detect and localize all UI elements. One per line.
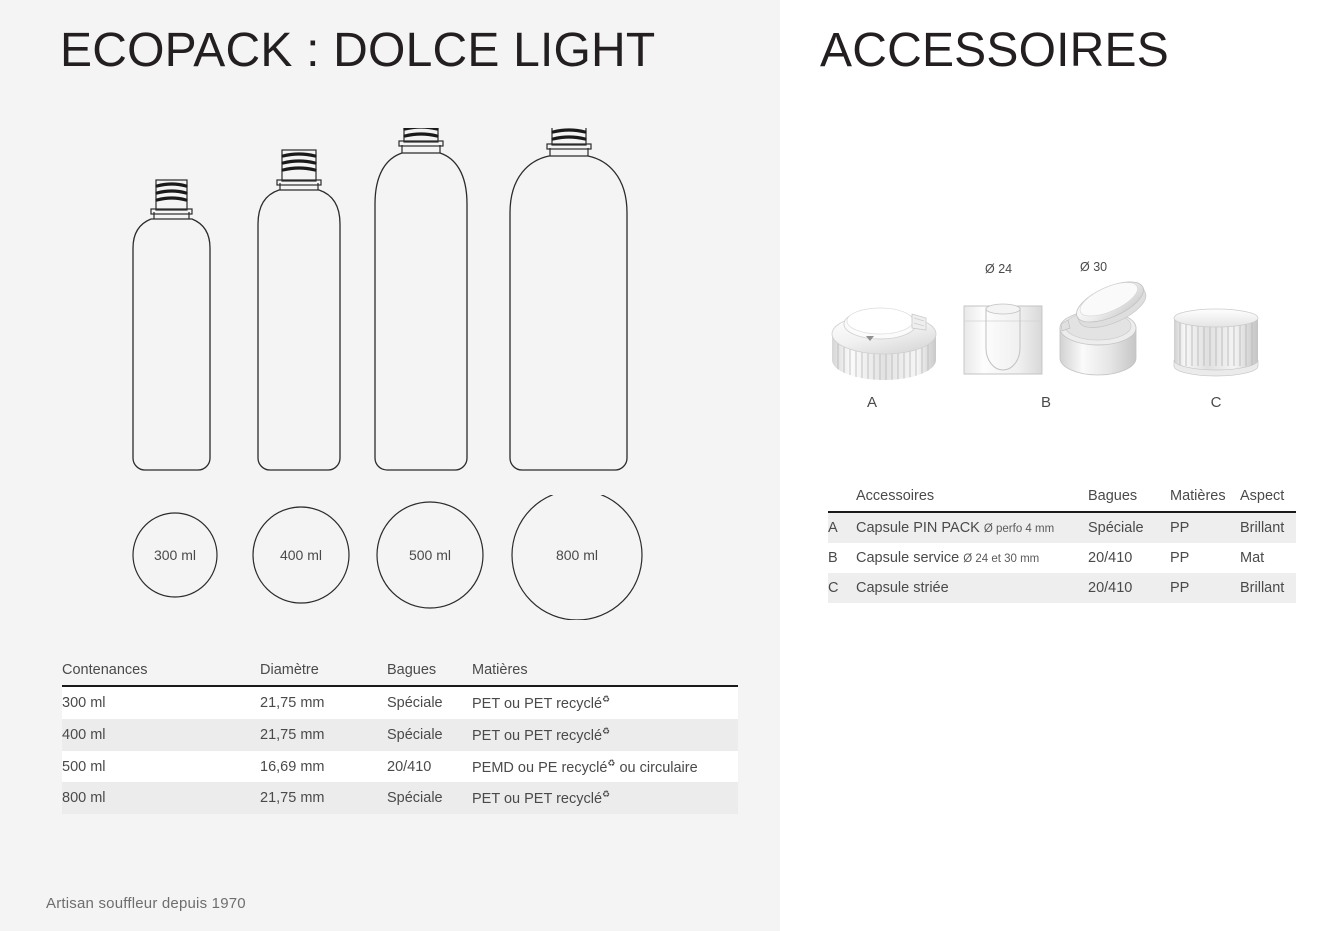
matiere-text: PET ou PET recyclé (472, 791, 602, 807)
table-row: 300 ml 21,75 mm Spéciale PET ou PET recy… (62, 686, 738, 719)
containers-table: Contenances Diamètre Bagues Matières 300… (62, 662, 738, 814)
cell-diametre: 16,69 mm (260, 751, 387, 783)
table-row: 800 ml 21,75 mm Spéciale PET ou PET recy… (62, 782, 738, 814)
volume-circle-800: 800 ml (512, 495, 642, 620)
bottle-500ml (375, 128, 467, 470)
accessory-caption-b: B (1016, 394, 1076, 411)
matiere-text: PET ou PET recyclé (472, 696, 602, 712)
cell-matiere: PET ou PET recyclé♻ (472, 782, 738, 814)
cell-diametre: 21,75 mm (260, 782, 387, 814)
page-title-accessoires: ACCESSOIRES (820, 22, 1169, 80)
cell-bague: 20/410 (1088, 543, 1170, 573)
right-panel (780, 0, 1325, 931)
capsule-pin-pack-figure (822, 278, 952, 393)
recycle-icon: ♻ (602, 726, 610, 736)
accessories-table: Accessoires Bagues Matières Aspect A Cap… (828, 488, 1296, 603)
capsule-service-open-view (1060, 276, 1150, 375)
header-matieres: Matières (472, 662, 738, 686)
cell-matiere: PET ou PET recyclé♻ (472, 686, 738, 719)
cell-matiere: PET ou PET recyclé♻ (472, 719, 738, 751)
cell-ref: C (828, 573, 856, 603)
cell-accessoire: Capsule PIN PACK Ø perfo 4 mm (856, 512, 1088, 543)
capsule-striee-figure (1168, 296, 1268, 388)
capsule-service-figure (960, 276, 1150, 388)
header-ref (828, 488, 856, 512)
accessory-caption-c: C (1186, 394, 1246, 411)
cell-accessoire: Capsule service Ø 24 et 30 mm (856, 543, 1088, 573)
cell-bague: Spéciale (387, 782, 472, 814)
cell-bague: Spéciale (387, 719, 472, 751)
containers-table-header-row: Contenances Diamètre Bagues Matières (62, 662, 738, 686)
cell-bague: Spéciale (1088, 512, 1170, 543)
table-row: 500 ml 16,69 mm 20/410 PEMD ou PE recycl… (62, 751, 738, 783)
cell-ref: A (828, 512, 856, 543)
header-diametre: Diamètre (260, 662, 387, 686)
cell-bague: Spéciale (387, 686, 472, 719)
header-matieres: Matières (1170, 488, 1240, 512)
cell-contenance: 400 ml (62, 719, 260, 751)
bottle-300ml (133, 180, 210, 470)
cell-aspect: Mat (1240, 543, 1296, 573)
capsule-service-front-view (964, 304, 1042, 374)
volume-circle-400: 400 ml (253, 507, 349, 603)
page-title-ecopack: ECOPACK : DOLCE LIGHT (60, 22, 655, 80)
bottle-800ml (510, 128, 627, 470)
header-aspect: Aspect (1240, 488, 1296, 512)
accessoire-name: Capsule PIN PACK (856, 520, 980, 536)
volume-circle-label-400: 400 ml (280, 547, 322, 563)
header-bagues: Bagues (1088, 488, 1170, 512)
bottle-400ml (258, 150, 340, 470)
table-row: 400 ml 21,75 mm Spéciale PET ou PET recy… (62, 719, 738, 751)
header-bagues: Bagues (387, 662, 472, 686)
table-row: C Capsule striée 20/410 PP Brillant (828, 573, 1296, 603)
recycle-icon: ♻ (602, 694, 610, 704)
cell-matiere: PP (1170, 543, 1240, 573)
neck-thread-800 (553, 128, 585, 139)
header-accessoires: Accessoires (856, 488, 1088, 512)
cell-bague: 20/410 (387, 751, 472, 783)
recycle-icon: ♻ (602, 789, 610, 799)
cell-contenance: 300 ml (62, 686, 260, 719)
table-row: B Capsule service Ø 24 et 30 mm 20/410 P… (828, 543, 1296, 573)
cell-matiere: PP (1170, 512, 1240, 543)
accessoire-name: Capsule service (856, 550, 959, 566)
table-row: A Capsule PIN PACK Ø perfo 4 mm Spéciale… (828, 512, 1296, 543)
cell-contenance: 500 ml (62, 751, 260, 783)
cell-diametre: 21,75 mm (260, 719, 387, 751)
accessoire-note: Ø 24 et 30 mm (963, 553, 1039, 565)
accessoire-note: Ø perfo 4 mm (984, 523, 1054, 535)
cell-accessoire: Capsule striée (856, 573, 1088, 603)
cell-ref: B (828, 543, 856, 573)
catalog-page: ECOPACK : DOLCE LIGHT ACCESSOIRES (0, 0, 1325, 931)
header-contenances: Contenances (62, 662, 260, 686)
volume-circle-label-300: 300 ml (154, 547, 196, 563)
neck-thread-400 (283, 154, 315, 170)
matiere-text: PET ou PET recyclé (472, 728, 602, 744)
cell-matiere: PEMD ou PE recyclé♻ ou circulaire (472, 751, 738, 783)
bottle-lineup-illustration (110, 128, 670, 478)
cell-contenance: 800 ml (62, 782, 260, 814)
volume-circle-label-800: 800 ml (556, 547, 598, 563)
accessoire-name: Capsule striée (856, 580, 949, 596)
cell-aspect: Brillant (1240, 512, 1296, 543)
accessories-table-header-row: Accessoires Bagues Matières Aspect (828, 488, 1296, 512)
neck-thread-300 (157, 184, 186, 200)
volume-circles-illustration: 300 ml 400 ml 500 ml 800 ml (110, 495, 670, 620)
accessory-caption-a: A (842, 394, 902, 411)
cell-bague: 20/410 (1088, 573, 1170, 603)
volume-circle-label-500: 500 ml (409, 547, 451, 563)
dimension-label-30: Ø 30 (1080, 260, 1107, 274)
footer-tagline: Artisan souffleur depuis 1970 (46, 895, 246, 912)
matiere-text: PEMD ou PE recyclé (472, 759, 607, 775)
matiere-suffix: ou circulaire (615, 759, 697, 775)
cell-matiere: PP (1170, 573, 1240, 603)
cell-aspect: Brillant (1240, 573, 1296, 603)
neck-thread-500 (405, 128, 437, 136)
cell-diametre: 21,75 mm (260, 686, 387, 719)
dimension-label-24: Ø 24 (985, 262, 1012, 276)
volume-circle-500: 500 ml (377, 502, 483, 608)
volume-circle-300: 300 ml (133, 513, 217, 597)
